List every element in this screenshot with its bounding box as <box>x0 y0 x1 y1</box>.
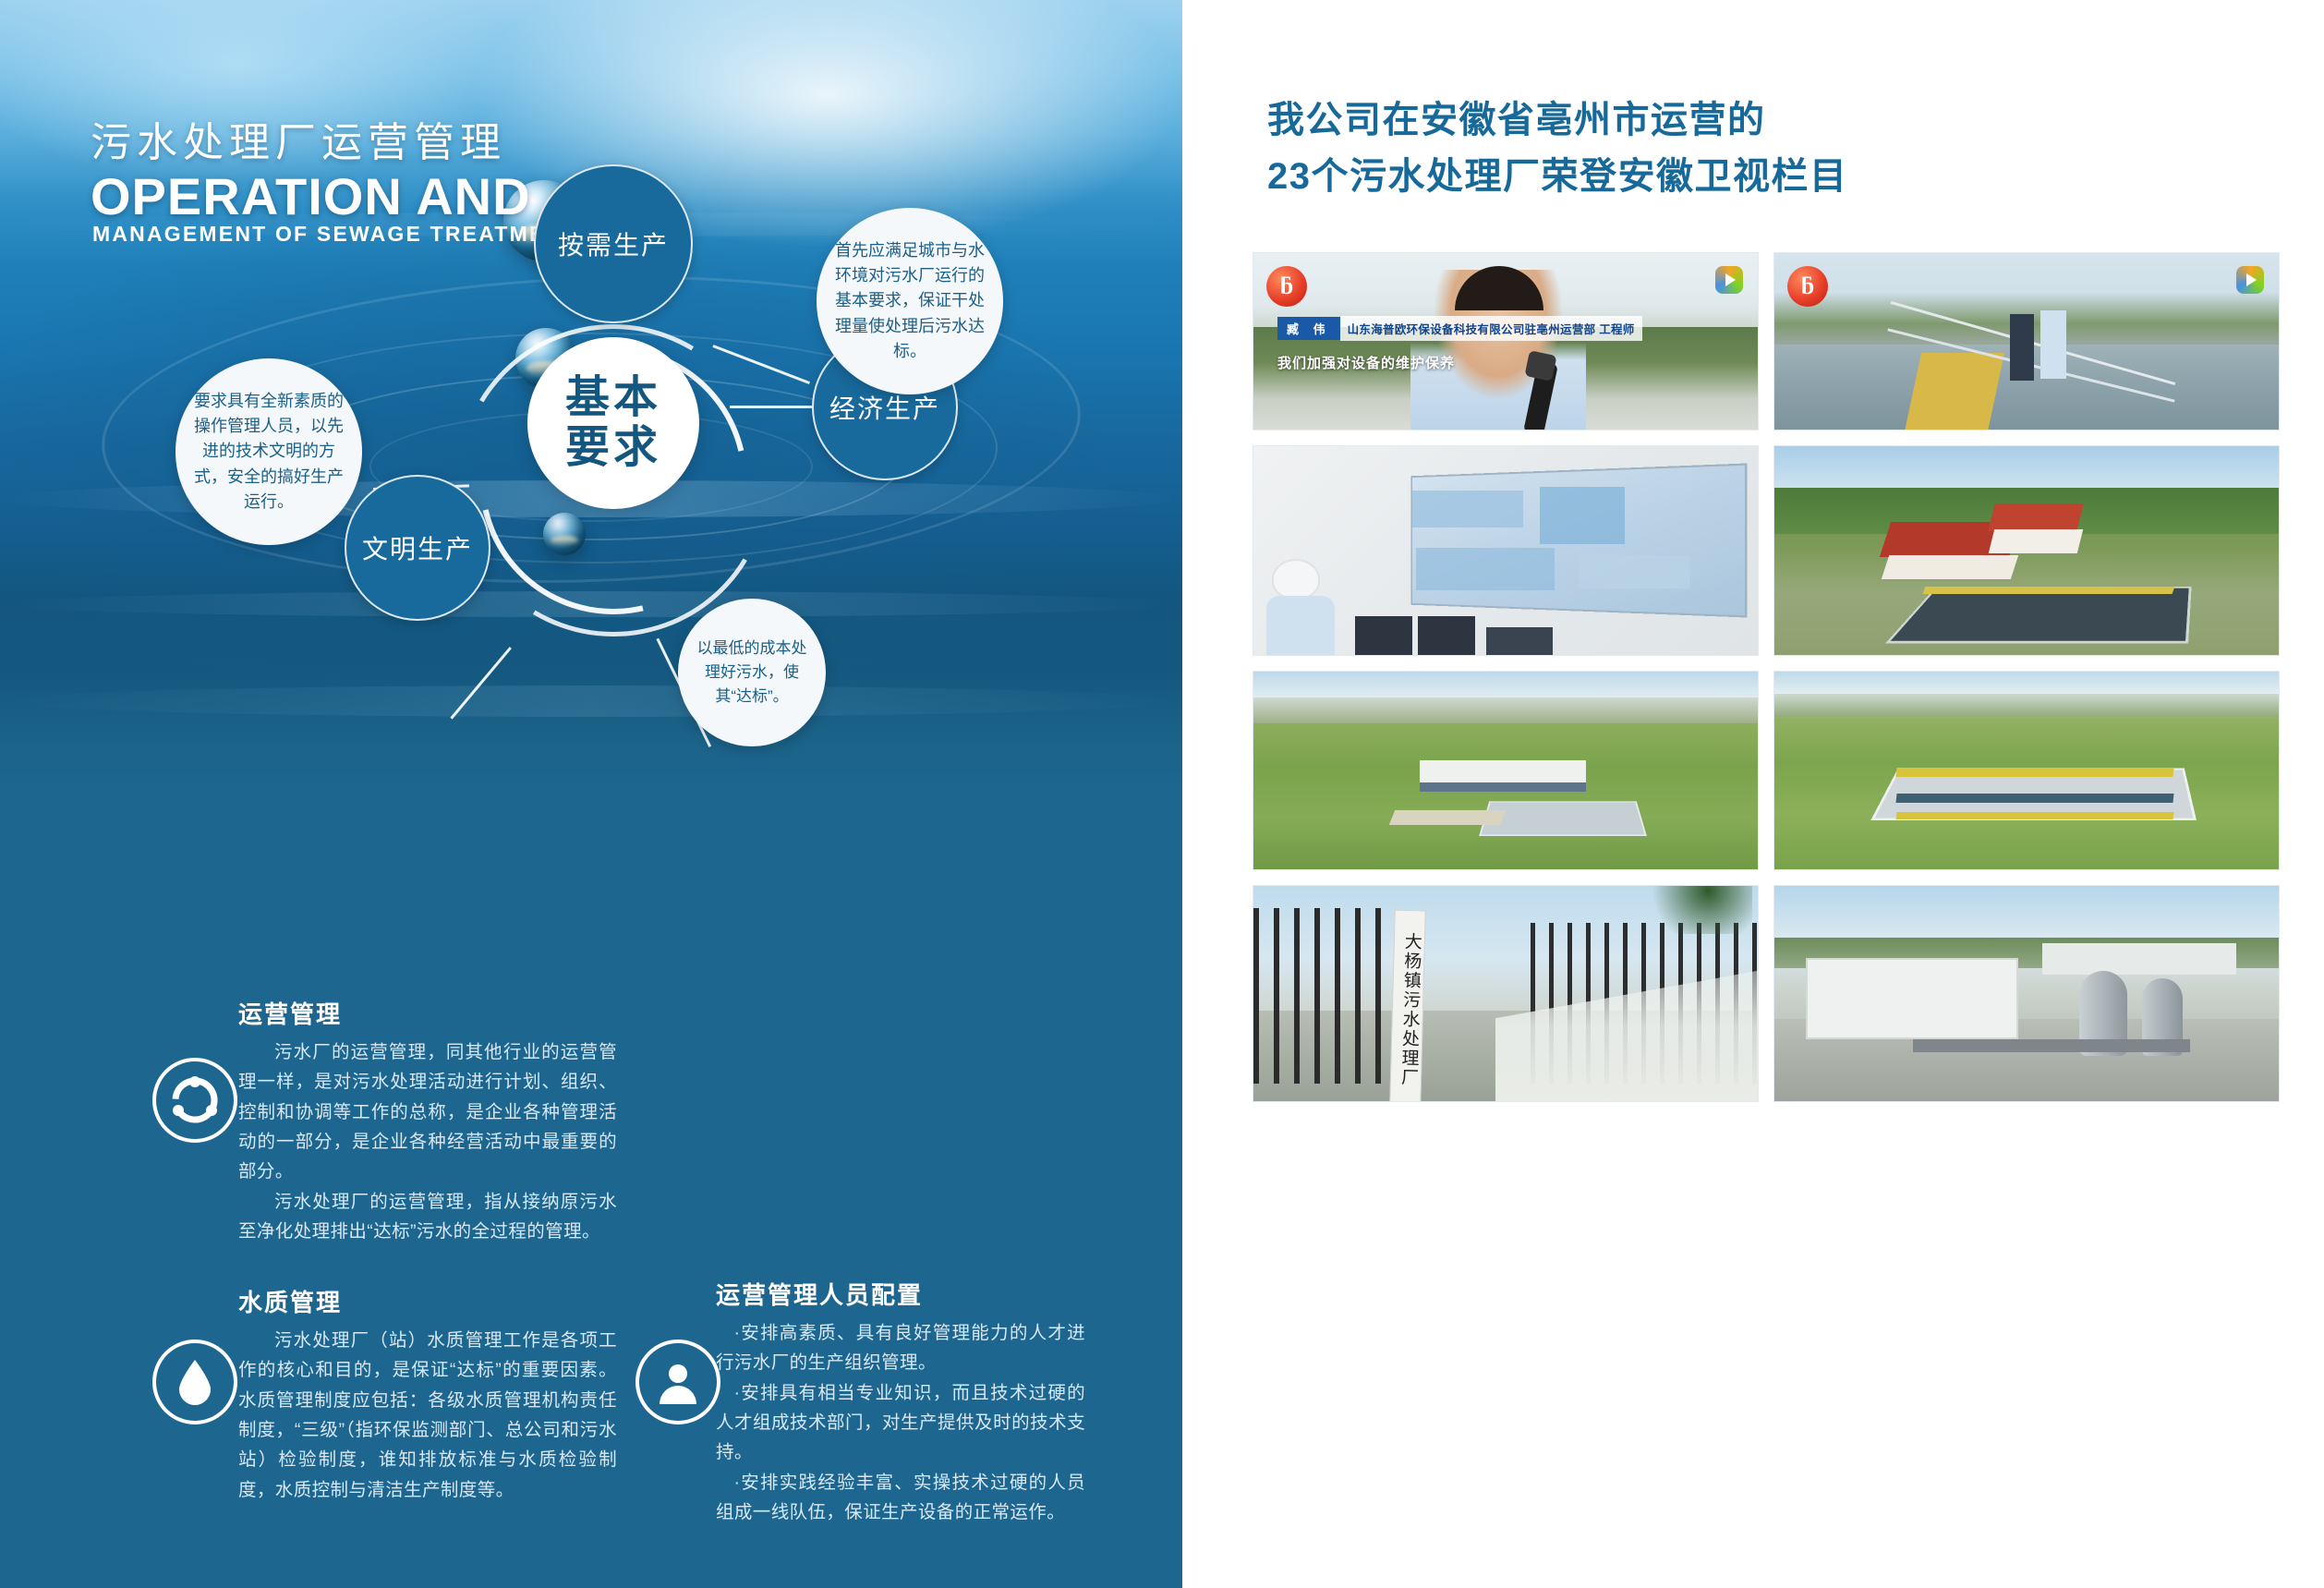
photo-row <box>1253 445 2280 656</box>
heading-line-2: 23个污水处理厂荣登安徽卫视栏目 <box>1267 149 2191 205</box>
photo-aerial-plant-redroof[interactable] <box>1773 445 2280 656</box>
section-bullet: ·安排高素质、具有良好管理能力的人才进行污水厂的生产组织管理。 <box>716 1318 1085 1378</box>
node-label: 按需生产 <box>558 225 669 262</box>
brochure-spread: 污水处理厂运营管理 OPERATION AND MANAGEMENT OF SE… <box>0 0 2324 1588</box>
page-title-chinese: 污水处理厂运营管理 <box>91 109 506 168</box>
photo-row: 大杨镇污水处理厂 <box>1253 885 2280 1102</box>
diagram-node-on-demand-production[interactable]: 按需生产 <box>534 164 693 323</box>
anhui-tv-logo-icon: ƃ <box>1266 266 1307 307</box>
anhui-tv-logo-icon: ƃ <box>1787 266 1828 307</box>
section-heading: 运营管理人员配置 <box>716 1277 1085 1311</box>
tv-subtitle: 我们加强对设备的维护保养 <box>1277 353 1455 372</box>
photo-equipment-tanks[interactable] <box>1773 885 2280 1102</box>
section-bullet: ·安排具有相当专业知识，而且技术过硬的人才组成技术部门，对生产提供及时的技术支持… <box>716 1378 1085 1468</box>
bubble-text: 首先应满足城市与水环境对污水厂运行的基本要求，保证干处理量使处理后污水达标。 <box>829 238 990 365</box>
diagram-bubble-lowest-cost: 以最低的成本处理好污水，使其“达标”。 <box>678 599 826 746</box>
center-label-line2: 要求 <box>565 423 661 473</box>
node-label: 经济生产 <box>829 389 940 426</box>
person-icon <box>635 1339 720 1424</box>
bubble-text: 要求具有全新素质的操作管理人员，以先进的技术文明的方式，安全的搞好生产运行。 <box>188 389 349 515</box>
section-paragraph: 污水处理厂的运营管理，指从接纳原污水至净化处理排出“达标”污水的全过程的管理。 <box>238 1187 617 1247</box>
photo-control-room-scada[interactable] <box>1253 445 1759 656</box>
photo-aeration-tank-walkway[interactable]: ƃ <box>1773 252 2280 430</box>
photo-aerial-plant-greenfield[interactable] <box>1773 671 2280 870</box>
section-staff-allocation: 运营管理人员配置 ·安排高素质、具有良好管理能力的人才进行污水厂的生产组织管理。… <box>716 1277 1085 1528</box>
section-paragraph: 污水厂的运营管理，同其他行业的运营管理一样，是对污水处理活动进行计划、组织、控制… <box>238 1037 617 1187</box>
network-nodes-icon <box>152 1058 237 1143</box>
diagram-bubble-staff-quality: 要求具有全新素质的操作管理人员，以先进的技术文明的方式，安全的搞好生产运行。 <box>176 358 362 545</box>
caption-role: 山东海普欧环保设备科技有限公司驻亳州运营部 工程师 <box>1340 316 1642 341</box>
photo-plant-gate[interactable]: 大杨镇污水处理厂 <box>1253 885 1759 1102</box>
section-heading: 运营管理 <box>238 996 617 1030</box>
gate-sign-text: 大杨镇污水处理厂 <box>1398 932 1422 1087</box>
diagram-node-civilized-production[interactable]: 文明生产 <box>345 475 490 621</box>
photo-interview-engineer[interactable]: ƃ 臧 伟 山东海普欧环保设备科技有限公司驻亳州运营部 工程师 我们加强对设备的… <box>1253 252 1759 430</box>
water-drop-icon <box>152 1339 237 1424</box>
heading-line-1: 我公司在安徽省亳州市运营的 <box>1267 92 2191 149</box>
bubble-text: 以最低的成本处理好污水，使其“达标”。 <box>691 636 813 708</box>
photo-aerial-plant-farmland[interactable] <box>1253 671 1759 870</box>
section-water-quality-management: 水质管理 污水处理厂（站）水质管理工作是各项工作的核心和目的，是保证“达标”的重… <box>238 1284 617 1505</box>
photo-row: ƃ 臧 伟 山东海普欧环保设备科技有限公司驻亳州运营部 工程师 我们加强对设备的… <box>1253 252 2280 430</box>
gate-sign: 大杨镇污水处理厂 <box>1389 910 1425 1102</box>
video-play-logo-icon <box>2236 266 2264 294</box>
left-page: 污水处理厂运营管理 OPERATION AND MANAGEMENT OF SE… <box>0 0 1182 1588</box>
section-paragraph: 污水处理厂（站）水质管理工作是各项工作的核心和目的，是保证“达标”的重要因素。水… <box>238 1326 617 1505</box>
tv-caption: 臧 伟 山东海普欧环保设备科技有限公司驻亳州运营部 工程师 <box>1277 316 1642 341</box>
photo-grid: ƃ 臧 伟 山东海普欧环保设备科技有限公司驻亳州运营部 工程师 我们加强对设备的… <box>1253 252 2280 1117</box>
caption-name: 臧 伟 <box>1277 317 1340 340</box>
video-play-logo-icon <box>1715 266 1743 294</box>
right-page-heading: 我公司在安徽省亳州市运营的 23个污水处理厂荣登安徽卫视栏目 <box>1267 92 2191 205</box>
diagram-center-node: 基本 要求 <box>527 337 699 509</box>
section-heading: 水质管理 <box>238 1284 617 1318</box>
right-page: 我公司在安徽省亳州市运营的 23个污水处理厂荣登安徽卫视栏目 ƃ 臧 伟 <box>1201 0 2324 1588</box>
diagram-bubble-basic-requirement: 首先应满足城市与水环境对污水厂运行的基本要求，保证干处理量使处理后污水达标。 <box>817 208 1003 394</box>
connector-line <box>451 647 512 719</box>
photo-row <box>1253 671 2280 870</box>
section-operation-management: 运营管理 污水厂的运营管理，同其他行业的运营管理一样，是对污水处理活动进行计划、… <box>238 996 617 1247</box>
section-bullet: ·安排实践经验丰富、实操技术过硬的人员组成一线队伍，保证生产设备的正常运作。 <box>716 1468 1085 1528</box>
node-label: 文明生产 <box>362 529 473 566</box>
center-label-line1: 基本 <box>565 373 661 423</box>
basic-requirements-diagram: 基本 要求 按需生产 经济生产 文明生产 首先应满足城市与水环境对污水厂运行的基… <box>0 277 1182 1016</box>
page-title-english: OPERATION AND <box>91 166 531 226</box>
